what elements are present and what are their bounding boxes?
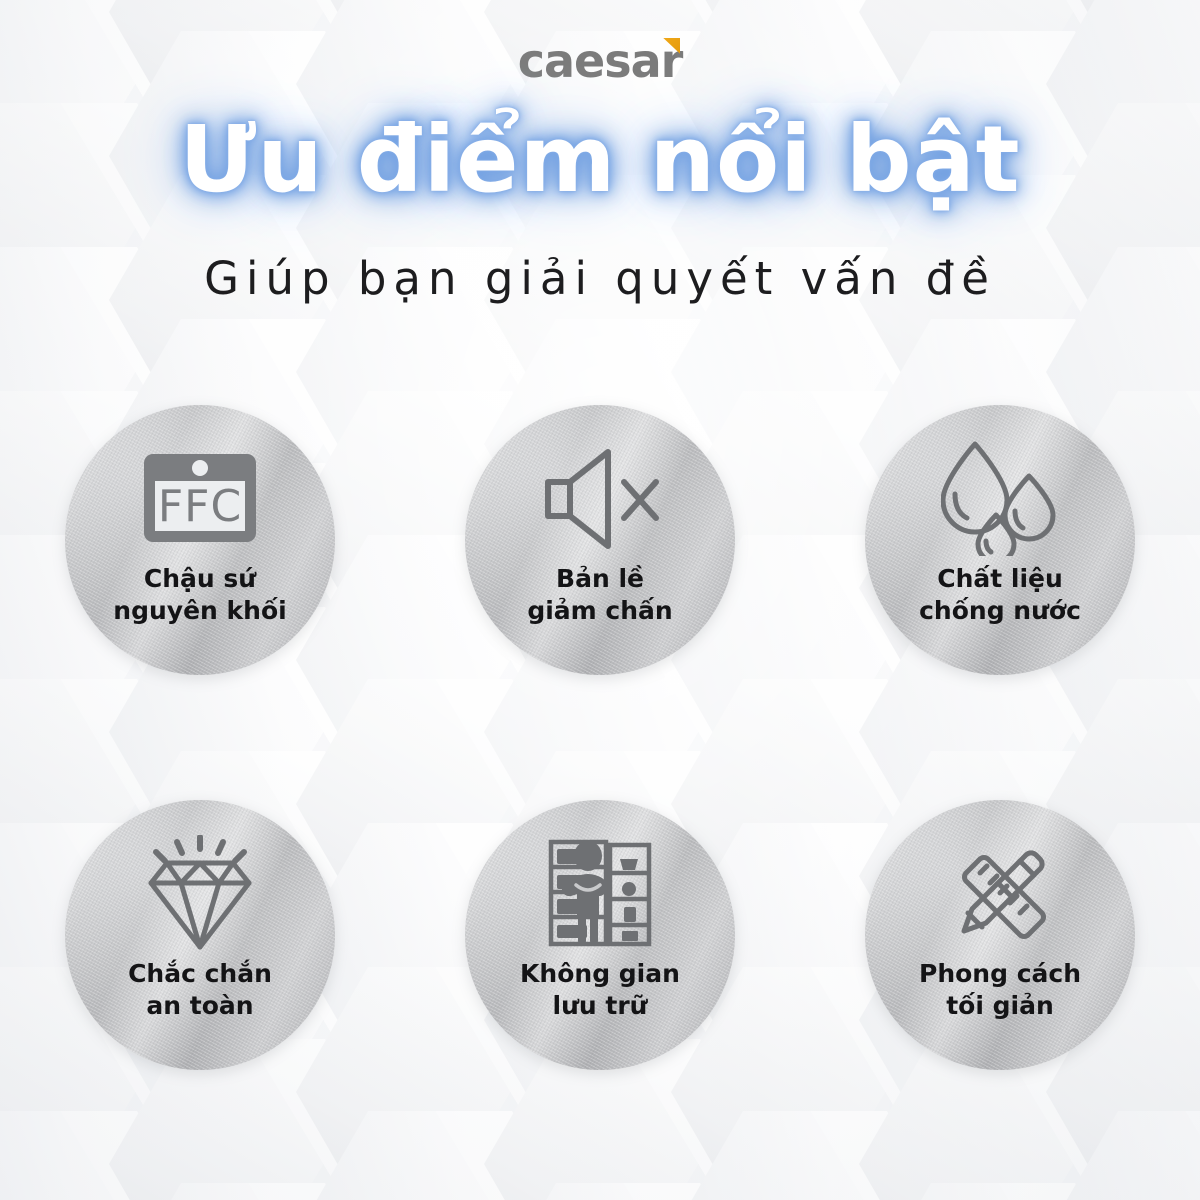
brand-header: caesar — [0, 34, 1200, 88]
pencil-ruler-icon — [865, 834, 1135, 952]
water-drops-icon — [865, 439, 1135, 557]
feature-label-line1: Chắc chắn — [73, 958, 327, 990]
feature-item[interactable]: Bản lề giảm chấn — [465, 405, 735, 675]
ffc-icon-text: FFC — [158, 481, 242, 532]
feature-label: Phong cách tối giản — [865, 958, 1135, 1022]
feature-item[interactable]: FFC Chậu sứ nguyên khối — [65, 405, 335, 675]
page-title: Ưu điểm nổi bật — [0, 112, 1200, 209]
feature-label-line1: Phong cách — [873, 958, 1127, 990]
feature-label-line2: tối giản — [873, 990, 1127, 1022]
feature-label-line1: Chậu sứ — [73, 563, 327, 595]
feature-label-line2: an toàn — [73, 990, 327, 1022]
features-grid: FFC Chậu sứ nguyên khối — [0, 405, 1200, 1195]
feature-label-line2: nguyên khối — [73, 595, 327, 627]
feature-item[interactable]: Không gian lưu trữ — [465, 800, 735, 1070]
feature-item[interactable]: Chất liệu chống nước — [865, 405, 1135, 675]
feature-label-line1: Chất liệu — [873, 563, 1127, 595]
feature-label-line1: Bản lề — [473, 563, 727, 595]
feature-label: Chắc chắn an toàn — [65, 958, 335, 1022]
feature-item[interactable]: Phong cách tối giản — [865, 800, 1135, 1070]
feature-label: Chậu sứ nguyên khối — [65, 563, 335, 627]
feature-label: Không gian lưu trữ — [465, 958, 735, 1022]
speaker-mute-icon — [465, 439, 735, 557]
feature-label-line1: Không gian — [473, 958, 727, 990]
feature-label-line2: chống nước — [873, 595, 1127, 627]
diamond-sparkle-icon — [65, 834, 335, 952]
feature-label-line2: giảm chấn — [473, 595, 727, 627]
feature-label: Bản lề giảm chấn — [465, 563, 735, 627]
caesar-logo-text: caesar — [518, 34, 683, 88]
page-subtitle: Giúp bạn giải quyết vấn đề — [0, 252, 1200, 305]
storage-shelf-icon — [465, 834, 735, 952]
feature-label-line2: lưu trữ — [473, 990, 727, 1022]
feature-item[interactable]: Chắc chắn an toàn — [65, 800, 335, 1070]
promo-poster: caesar Ưu điểm nổi bật Giúp bạn giải quy… — [0, 0, 1200, 1200]
feature-label: Chất liệu chống nước — [865, 563, 1135, 627]
caesar-logo: caesar — [518, 34, 683, 88]
ffc-badge-icon: FFC — [65, 439, 335, 557]
